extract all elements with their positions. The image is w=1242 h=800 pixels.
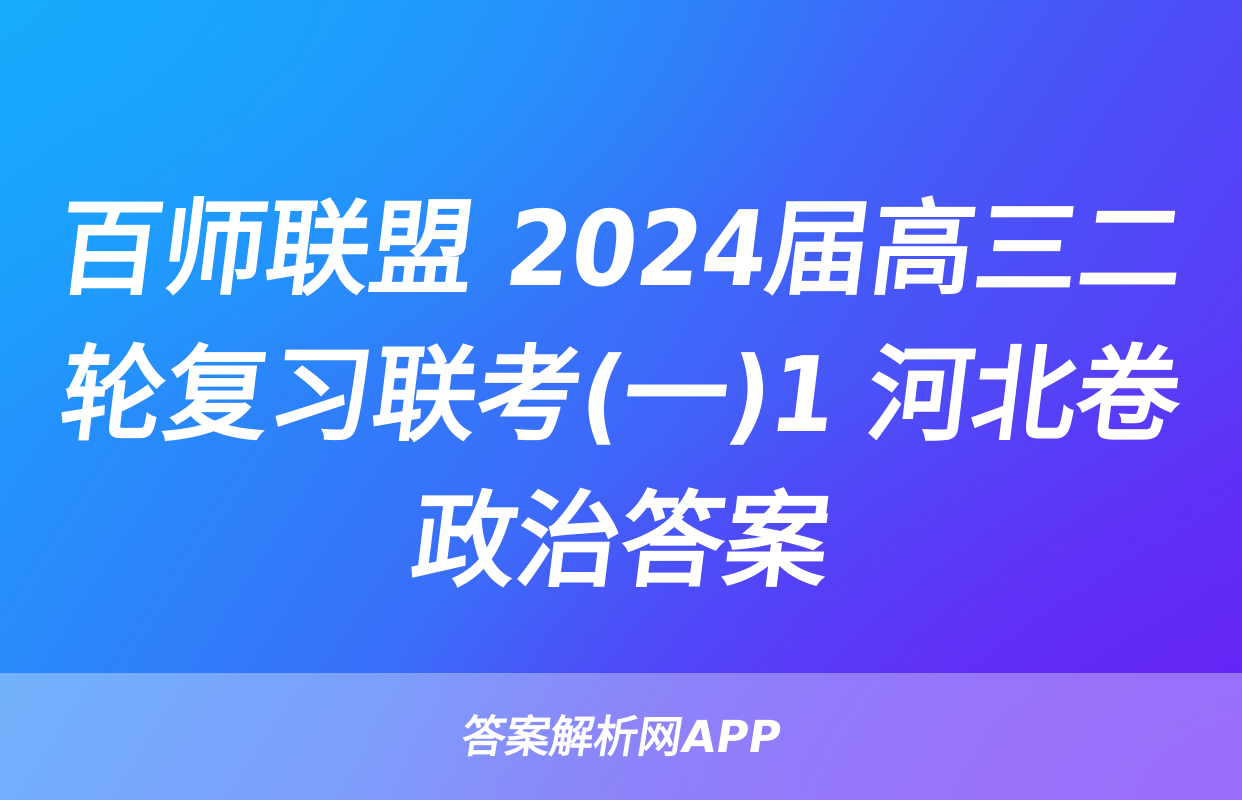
watermark-text: 答案解析网APP bbox=[458, 713, 784, 763]
poster-canvas: 百师联盟 2024届高三二 轮复习联考(一)1 河北卷 政治答案 答案解析网AP… bbox=[0, 0, 1242, 800]
footer-watermark-band: 答案解析网APP bbox=[0, 673, 1242, 800]
